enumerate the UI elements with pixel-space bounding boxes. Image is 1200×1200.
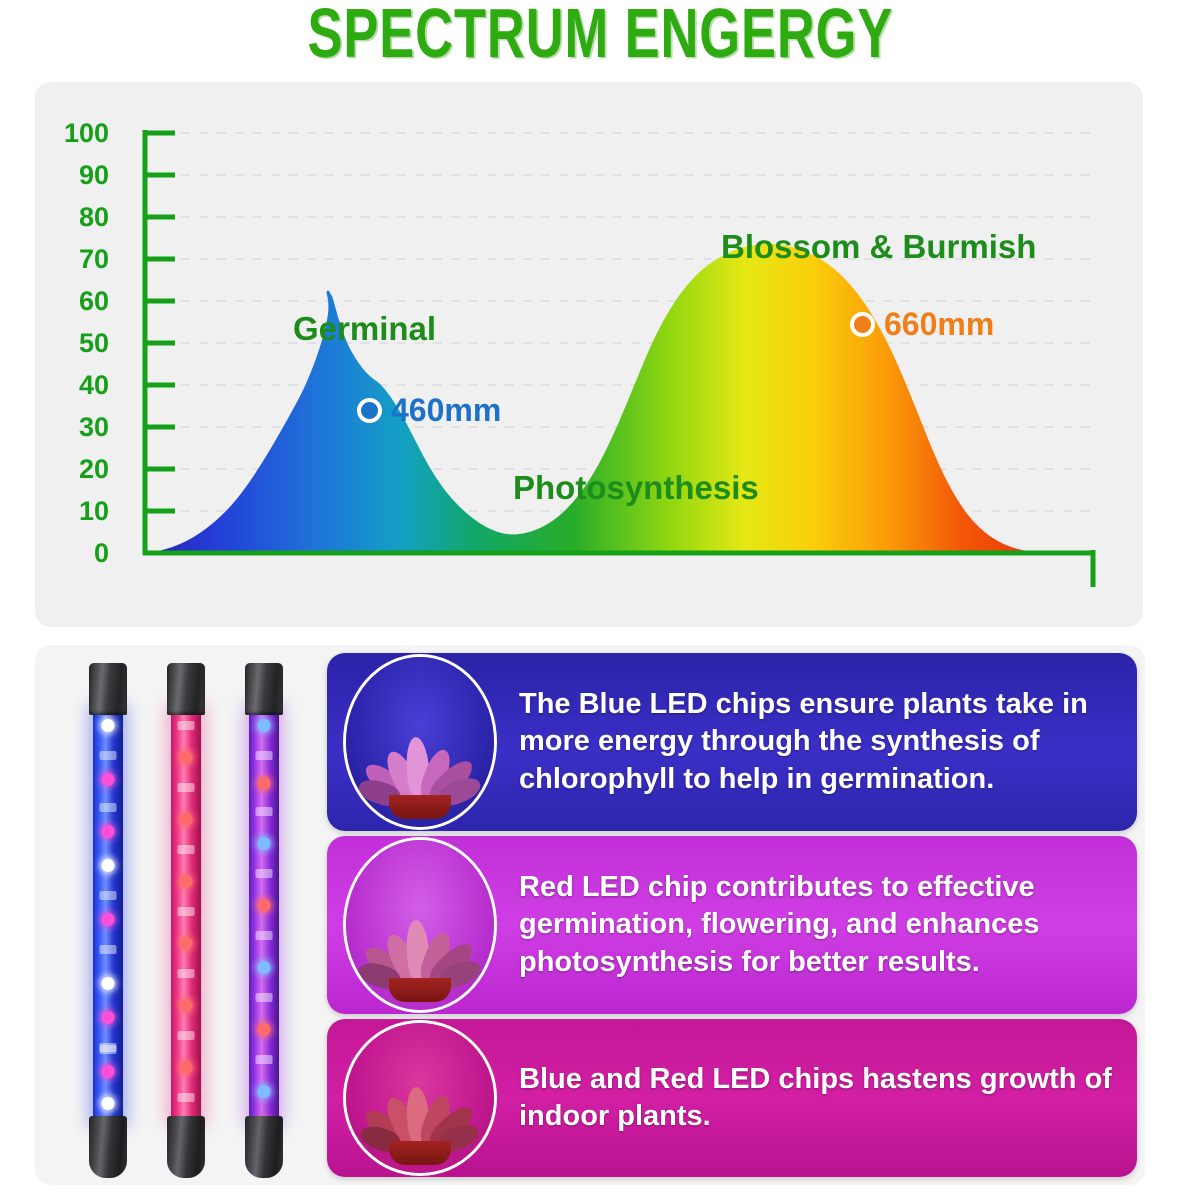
header: SPECTRUM ENGERGY [0,0,1200,68]
led-chip [180,875,193,888]
feature-cards: The Blue LED chips ensure plants take in… [327,653,1137,1177]
y-tick-80: 80 [43,204,109,231]
y-tick-90: 90 [43,162,109,189]
annotation-germinal: Germinal [293,310,436,348]
plant-illustration [346,854,494,1004]
led-chip [256,931,273,940]
led-chip [100,891,117,900]
y-tick-50: 50 [43,330,109,357]
led-tubes-group [55,653,315,1178]
tube-body [171,707,201,1124]
led-chip [178,907,195,916]
blue-red-led-tube [243,663,285,1178]
led-chip [178,845,195,854]
flower-pot-icon [389,795,451,819]
led-chip [178,969,195,978]
red-led-tube [165,663,207,1178]
plant-illustration [346,1020,494,1167]
features-panel: The Blue LED chips ensure plants take in… [35,645,1145,1185]
plant-photo-thumbnail-blue [343,654,497,830]
plant-illustration [346,671,494,821]
tube-top-cap-icon [89,663,127,715]
tube-top-cap-icon [167,663,205,715]
led-chip [178,1093,195,1102]
led-chip [178,1031,195,1040]
led-chip [100,803,117,812]
annotation-blossom-burmish: Blossom & Burmish [721,228,1036,266]
tube-body [93,707,123,1124]
led-chip [180,937,193,950]
led-chip [180,1061,193,1074]
led-chip [100,751,117,760]
feature-card-pink: Blue and Red LED chips hastens growth of… [327,1019,1137,1177]
led-chip [258,899,271,912]
led-chip [258,719,271,732]
feature-text-blue: The Blue LED chips ensure plants take in… [497,686,1137,797]
led-chip [180,813,193,826]
led-chip [256,869,273,878]
annotation-photosynthesis: Photosynthesis [513,469,759,507]
peak-marker-460-label: 460mm [391,392,501,429]
led-chip [180,751,193,764]
orange-dot-icon [850,312,875,337]
blue-dot-icon [357,398,382,423]
led-chip [102,977,115,990]
tube-body [249,707,279,1124]
led-chip [178,783,195,792]
spectrum-chart [35,82,1143,627]
led-chip [256,993,273,1002]
led-chip [102,773,115,786]
led-chip [100,1045,117,1054]
plant-photo-thumbnail-red [343,837,497,1013]
y-tick-30: 30 [43,414,109,441]
y-tick-70: 70 [43,246,109,273]
spectrum-chart-svg [35,82,1143,627]
y-tick-60: 60 [43,288,109,315]
feature-text-violet: Red LED chip contributes to effective ge… [497,869,1137,980]
feature-text-pink: Blue and Red LED chips hastens growth of… [497,1061,1137,1135]
feature-card-blue: The Blue LED chips ensure plants take in… [327,653,1137,831]
flower-pot-icon [389,978,451,1002]
led-chip [258,961,271,974]
led-chip [258,777,271,790]
led-chip [258,837,271,850]
led-chip [256,751,273,760]
led-chip [180,999,193,1012]
led-chip [102,719,115,732]
plant-photo-thumbnail-pink [343,1020,497,1176]
led-chip [102,859,115,872]
y-axis-ticks [145,133,175,511]
led-chip [102,825,115,838]
tube-bottom-cap-icon [89,1116,127,1178]
led-array [249,707,279,1124]
y-tick-20: 20 [43,456,109,483]
peak-marker-660-label: 660mm [884,306,994,343]
tube-bottom-cap-icon [245,1116,283,1178]
led-chip [102,1097,115,1110]
led-chip [102,913,115,926]
led-chip [258,1085,271,1098]
led-chip [102,1011,115,1024]
led-chip [178,721,195,730]
feature-card-violet: Red LED chip contributes to effective ge… [327,836,1137,1014]
y-tick-40: 40 [43,372,109,399]
led-array [171,707,201,1124]
tube-bottom-cap-icon [167,1116,205,1178]
led-chip [256,807,273,816]
led-array [93,707,123,1124]
peak-marker-660: 660mm [850,306,994,343]
led-chip [258,1023,271,1036]
y-tick-10: 10 [43,498,109,525]
tube-top-cap-icon [245,663,283,715]
y-tick-100: 100 [43,120,109,147]
peak-marker-460: 460mm [357,392,501,429]
led-chip [102,1065,115,1078]
flower-pot-icon [389,1141,451,1165]
page-title: SPECTRUM ENGERGY [307,0,893,74]
spectrum-chart-panel: 100 90 80 70 60 50 40 30 20 10 0 Germina… [35,82,1143,627]
led-chip [256,1055,273,1064]
blue-led-tube [87,663,129,1178]
y-tick-0: 0 [43,540,109,567]
led-chip [100,945,117,954]
